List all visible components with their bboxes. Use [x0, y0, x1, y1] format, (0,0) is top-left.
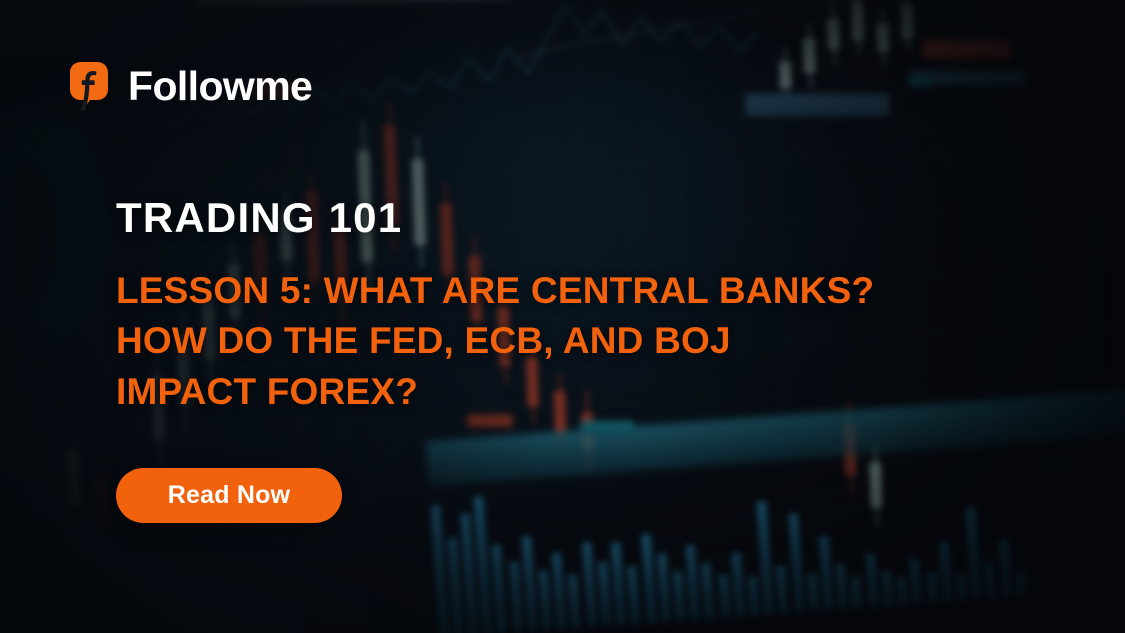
headline-line-2: HOW DO THE FED, ECB, AND BOJ — [116, 316, 1046, 366]
brand-lockup: Followme — [60, 60, 312, 112]
headline-line-3: IMPACT FOREX? — [116, 367, 1046, 417]
read-now-button[interactable]: Read Now — [116, 468, 342, 523]
banner-content: Followme TRADING 101 LESSON 5: WHAT ARE … — [0, 0, 1125, 633]
copy-block: TRADING 101 LESSON 5: WHAT ARE CENTRAL B… — [116, 196, 1046, 417]
brand-name: Followme — [128, 66, 312, 107]
headline: LESSON 5: WHAT ARE CENTRAL BANKS? HOW DO… — [116, 266, 1046, 417]
headline-line-1: LESSON 5: WHAT ARE CENTRAL BANKS? — [116, 266, 1046, 316]
eyebrow-heading: TRADING 101 — [116, 196, 1046, 240]
followme-logo-icon — [60, 60, 112, 112]
promo-banner: Followme TRADING 101 LESSON 5: WHAT ARE … — [0, 0, 1125, 633]
